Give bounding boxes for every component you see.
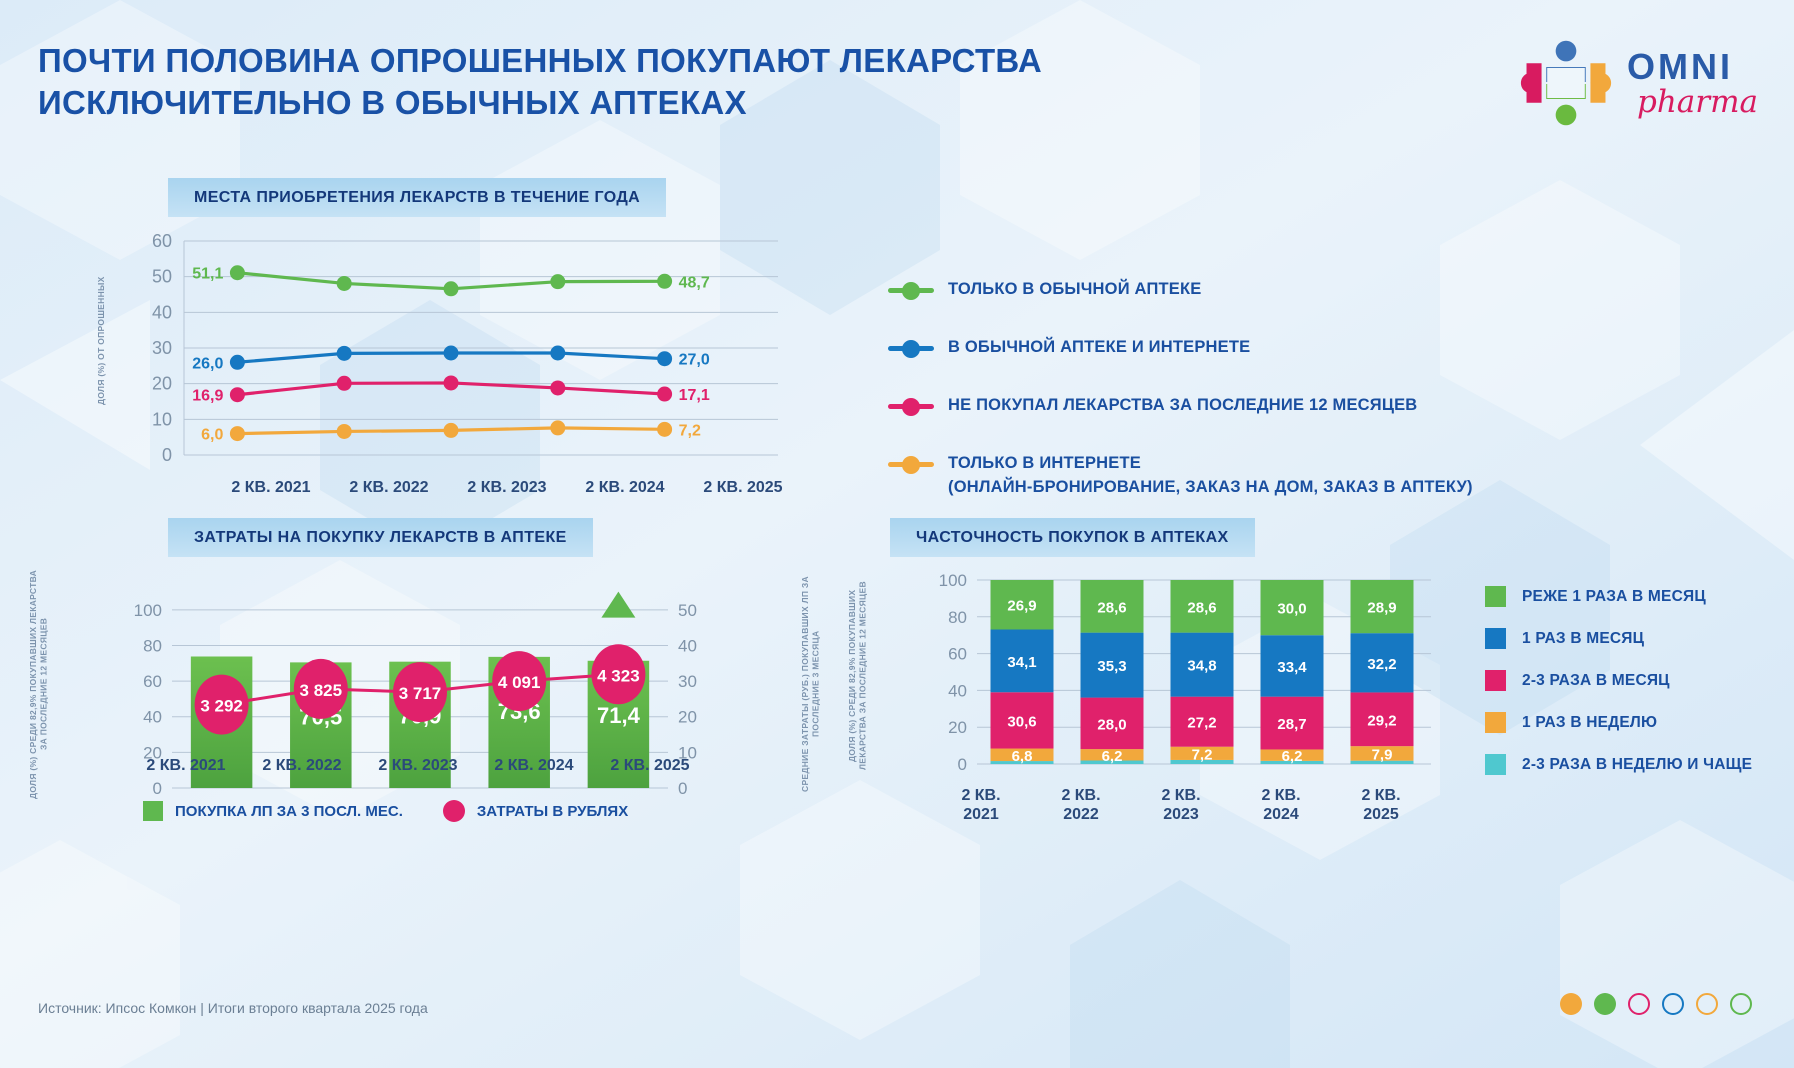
stacked-chart-plot: 0204060801006,830,634,126,96,228,035,328… [931,574,1431,774]
legend-label: В ОБЫЧНОЙ АПТЕКЕ И ИНТЕРНЕТЕ [948,336,1250,360]
line-data-point [657,274,672,289]
legend-item-2[interactable]: НЕ ПОКУПАЛ ЛЕКАРСТВА ЗА ПОСЛЕДНИЕ 12 МЕС… [888,394,1588,418]
line-data-point [444,281,459,296]
chart-title-combo: ЗАТРАТЫ НА ПОКУПКУ ЛЕКАРСТВ В АПТЕКЕ [168,518,593,557]
combo-y-tick-right: 20 [678,708,697,727]
combo-bar-label: 71,4 [597,703,641,728]
line-y-axis-title: ДОЛЯ (%) ОТ ОПРОШЕННЫХ [96,236,107,446]
line-y-tick: 20 [152,374,172,394]
line-x-tick: 2 КВ. 2022 [330,478,448,497]
stacked-segment-label: 27,2 [1187,715,1216,732]
stacked-legend-label: 1 РАЗ В НЕДЕЛЮ [1522,714,1657,732]
line-y-tick: 50 [152,267,172,287]
legend-item-0[interactable]: ТОЛЬКО В ОБЫЧНОЙ АПТЕКЕ [888,278,1588,302]
pagination-dots[interactable] [1560,993,1752,1015]
chart-spend-on-medicines: ЗАТРАТЫ НА ПОКУПКУ ЛЕКАРСТВ В АПТЕКЕ ДОЛ… [18,518,838,858]
line-x-tick: 2 КВ. 2021 [212,478,330,497]
chart-title-line: МЕСТА ПРИОБРЕТЕНИЯ ЛЕКАРСТВ В ТЕЧЕНИЕ ГО… [168,178,666,217]
combo-x-tick: 2 КВ. 2024 [476,756,592,775]
chart-purchase-frequency: ЧАСТОЧНОСТЬ ПОКУПОК В АПТЕКАХ ДОЛЯ (%) С… [845,518,1785,858]
line-chart-plot: 010203040506051,148,726,027,016,917,16,0… [128,233,796,473]
combo-legend-swatch-icon [143,801,163,821]
page-title: ПОЧТИ ПОЛОВИНА ОПРОШЕННЫХ ПОКУПАЮТ ЛЕКАР… [38,40,1338,124]
stacked-legend-label: 2-3 РАЗА В НЕДЕЛЮ И ЧАЩЕ [1522,756,1752,774]
line-x-axis-labels: 2 КВ. 20212 КВ. 20222 КВ. 20232 КВ. 2024… [212,478,802,497]
combo-line-label: 4 323 [597,666,640,685]
stacked-legend-item-4[interactable]: 2-3 РАЗА В НЕДЕЛЮ И ЧАЩЕ [1485,754,1752,775]
legend-marker-icon [888,279,934,301]
combo-x-tick: 2 КВ. 2021 [128,756,244,775]
pagination-dot-4[interactable] [1696,993,1718,1015]
combo-line-label: 3 825 [300,681,343,700]
legend-item-3[interactable]: ТОЛЬКО В ИНТЕРНЕТЕ(ОНЛАЙН-БРОНИРОВАНИЕ, … [888,452,1588,500]
stacked-legend-item-2[interactable]: 2-3 РАЗА В МЕСЯЦ [1485,670,1752,691]
combo-legend-item-1[interactable]: ЗАТРАТЫ В РУБЛЯХ [443,800,628,822]
line-start-label: 51,1 [192,266,223,283]
stacked-chart-legend: РЕЖЕ 1 РАЗА В МЕСЯЦ1 РАЗ В МЕСЯЦ2-3 РАЗА… [1485,586,1752,796]
combo-chart-legend: ПОКУПКА ЛП ЗА 3 ПОСЛ. МЕС.ЗАТРАТЫ В РУБЛ… [143,800,628,822]
stacked-legend-item-3[interactable]: 1 РАЗ В НЕДЕЛЮ [1485,712,1752,733]
stacked-segment-label: 7,2 [1192,746,1213,763]
logo-subtitle: pharma [1637,87,1758,118]
stacked-legend-swatch-icon [1485,586,1506,607]
combo-y-tick-right: 0 [678,779,687,798]
line-start-label: 26,0 [192,355,223,372]
stacked-segment-label: 34,8 [1187,658,1216,675]
legend-label: НЕ ПОКУПАЛ ЛЕКАРСТВА ЗА ПОСЛЕДНИЕ 12 МЕС… [948,394,1417,418]
line-end-label: 17,1 [679,387,710,404]
stacked-segment-label: 6,8 [1012,748,1033,765]
combo-x-tick: 2 КВ. 2025 [592,756,708,775]
stacked-x-tick: 2 КВ.2025 [1331,786,1431,824]
line-x-tick: 2 КВ. 2024 [566,478,684,497]
combo-y-tick-right: 40 [678,636,697,655]
stacked-segment-label: 28,6 [1097,599,1126,616]
stacked-segment-label: 29,2 [1367,712,1396,729]
pagination-dot-3[interactable] [1662,993,1684,1015]
stacked-segment-label: 28,6 [1187,599,1216,616]
legend-item-1[interactable]: В ОБЫЧНОЙ АПТЕКЕ И ИНТЕРНЕТЕ [888,336,1588,360]
legend-label: ТОЛЬКО В ИНТЕРНЕТЕ(ОНЛАЙН-БРОНИРОВАНИЕ, … [948,452,1473,500]
stacked-legend-swatch-icon [1485,670,1506,691]
combo-x-tick: 2 КВ. 2022 [244,756,360,775]
logo-wordmark: OMNI [1627,49,1758,85]
line-data-point [657,351,672,366]
stacked-x-axis-labels: 2 КВ.20212 КВ.20222 КВ.20232 КВ.20242 КВ… [931,786,1431,824]
stacked-y-tick: 60 [948,645,967,664]
stacked-segment-label: 7,9 [1372,746,1393,763]
line-data-point [230,387,245,402]
combo-legend-swatch-icon [443,800,465,822]
legend-marker-icon [888,395,934,417]
pagination-dot-5[interactable] [1730,993,1752,1015]
line-end-label: 48,7 [679,274,710,291]
stacked-segment-label: 32,2 [1367,656,1396,673]
line-data-point [230,265,245,280]
stacked-legend-item-1[interactable]: 1 РАЗ В МЕСЯЦ [1485,628,1752,649]
line-data-point [657,387,672,402]
stacked-segment-label: 6,2 [1102,748,1123,765]
combo-growth-triangle-icon [601,592,635,618]
chart-places-of-purchase: МЕСТА ПРИОБРЕТЕНИЯ ЛЕКАРСТВ В ТЕЧЕНИЕ ГО… [96,178,796,508]
stacked-legend-label: 1 РАЗ В МЕСЯЦ [1522,630,1644,648]
stacked-x-tick: 2 КВ.2021 [931,786,1031,824]
line-start-label: 16,9 [192,388,223,405]
omni-logo-icon [1519,36,1613,130]
stacked-segment-label: 33,4 [1277,659,1307,676]
source-note: Источник: Ипсос Комкон | Итоги второго к… [38,1000,428,1016]
line-data-point [550,274,565,289]
combo-y-tick-left: 40 [143,708,162,727]
stacked-legend-swatch-icon [1485,628,1506,649]
line-x-tick: 2 КВ. 2025 [684,478,802,497]
combo-x-tick: 2 КВ. 2023 [360,756,476,775]
chart-title-stacked: ЧАСТОЧНОСТЬ ПОКУПОК В АПТЕКАХ [890,518,1255,557]
line-start-label: 6,0 [201,427,223,444]
line-data-point [230,355,245,370]
line-end-label: 7,2 [679,422,701,439]
line-data-point [337,424,352,439]
stacked-segment-label: 35,3 [1097,658,1126,675]
stacked-x-tick: 2 КВ.2023 [1131,786,1231,824]
stacked-y-tick: 100 [939,574,967,590]
stacked-x-tick: 2 КВ.2024 [1231,786,1331,824]
combo-y-tick-left: 100 [134,601,162,620]
stacked-legend-label: РЕЖЕ 1 РАЗА В МЕСЯЦ [1522,588,1706,606]
line-data-point [550,380,565,395]
stacked-y-tick: 40 [948,681,967,700]
line-data-point [550,345,565,360]
page-header: ПОЧТИ ПОЛОВИНА ОПРОШЕННЫХ ПОКУПАЮТ ЛЕКАР… [38,40,1338,124]
combo-y-tick-left: 60 [143,672,162,691]
stacked-segment-label: 30,0 [1277,601,1306,618]
pagination-dot-2[interactable] [1628,993,1650,1015]
line-data-point [444,423,459,438]
line-y-tick: 10 [152,409,172,429]
line-y-tick: 30 [152,338,172,358]
stacked-segment-label: 28,0 [1097,716,1126,733]
stacked-y-tick: 80 [948,608,967,627]
line-data-point [444,375,459,390]
line-x-tick: 2 КВ. 2023 [448,478,566,497]
combo-line-label: 4 091 [498,673,541,692]
stacked-segment-label: 6,2 [1282,748,1303,765]
legend-marker-icon [888,453,934,475]
combo-y-tick-right: 30 [678,672,697,691]
stacked-y-tick: 0 [958,755,967,774]
stacked-legend-item-0[interactable]: РЕЖЕ 1 РАЗА В МЕСЯЦ [1485,586,1752,607]
line-data-point [337,346,352,361]
stacked-segment-label: 34,1 [1007,654,1036,671]
line-y-tick: 60 [152,233,172,251]
stacked-segment-label: 28,9 [1367,600,1396,617]
stacked-segment-label: 30,6 [1007,713,1036,730]
line-data-point [550,420,565,435]
combo-legend-item-0[interactable]: ПОКУПКА ЛП ЗА 3 ПОСЛ. МЕС. [143,801,403,821]
combo-line-label: 3 292 [200,697,243,716]
line-y-tick: 0 [162,445,172,465]
line-chart-legend: ТОЛЬКО В ОБЫЧНОЙ АПТЕКЕВ ОБЫЧНОЙ АПТЕКЕ … [888,278,1588,534]
stacked-legend-swatch-icon [1485,712,1506,733]
combo-y-tick-left: 0 [153,779,162,798]
combo-x-axis-labels: 2 КВ. 20212 КВ. 20222 КВ. 20232 КВ. 2024… [128,756,708,775]
line-data-point [337,276,352,291]
line-data-point [657,422,672,437]
combo-legend-label: ПОКУПКА ЛП ЗА 3 ПОСЛ. МЕС. [175,803,403,820]
stacked-y-tick: 20 [948,718,967,737]
legend-marker-icon [888,337,934,359]
combo-y-axis-title-left: ДОЛЯ (%) СРЕДИ 82,9% ПОКУПАВШИХ ЛЕКАРСТВ… [28,564,49,804]
stacked-legend-swatch-icon [1485,754,1506,775]
stacked-x-tick: 2 КВ.2022 [1031,786,1131,824]
page-title-line1: ПОЧТИ ПОЛОВИНА ОПРОШЕННЫХ ПОКУПАЮТ ЛЕКАР… [38,40,1338,82]
combo-y-tick-right: 50 [678,601,697,620]
pagination-dot-1[interactable] [1594,993,1616,1015]
line-data-point [444,345,459,360]
page-title-line2: ИСКЛЮЧИТЕЛЬНО В ОБЫЧНЫХ АПТЕКАХ [38,82,1338,124]
brand-logo: OMNI pharma [1519,36,1758,130]
line-y-tick: 40 [152,302,172,322]
stacked-segment-label: 26,9 [1007,598,1036,615]
line-data-point [230,426,245,441]
stacked-y-axis-title: ДОЛЯ (%) СРЕДИ 82,9% ПОКУПАВШИХ ЛЕКАРСТВ… [847,562,868,790]
pagination-dot-0[interactable] [1560,993,1582,1015]
stacked-segment-label: 28,7 [1277,716,1306,733]
combo-legend-label: ЗАТРАТЫ В РУБЛЯХ [477,803,628,820]
combo-y-tick-left: 80 [143,636,162,655]
line-end-label: 27,0 [679,352,710,369]
combo-line-label: 3 717 [399,684,442,703]
stacked-legend-label: 2-3 РАЗА В МЕСЯЦ [1522,672,1670,690]
line-data-point [337,376,352,391]
legend-label: ТОЛЬКО В ОБЫЧНОЙ АПТЕКЕ [948,278,1201,302]
combo-y-axis-title-right: СРЕДНИЕ ЗАТРАТЫ (РУБ.) ПОКУПАВШИХ ЛП ЗА … [800,564,821,804]
